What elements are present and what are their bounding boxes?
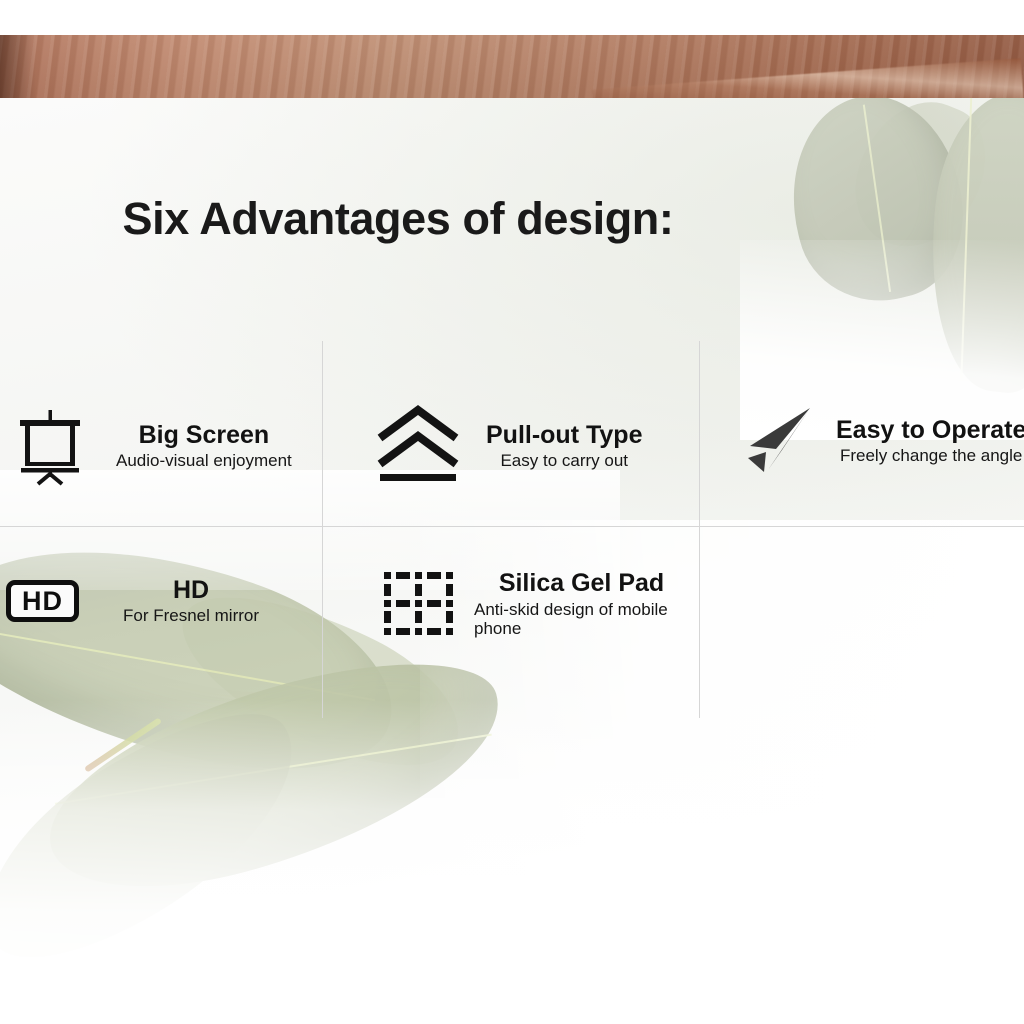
- dashed-grid-icon: [380, 566, 456, 642]
- feature-title: Pull-out Type: [486, 422, 642, 448]
- feature-subtitle: Easy to carry out: [500, 451, 628, 470]
- grid-divider-horizontal: [0, 526, 1024, 527]
- feature-cell-silica-gel-pad: Silica Gel Pad Anti-skid design of mobil…: [380, 566, 689, 642]
- feature-cell-pull-out-type: Pull-out Type Easy to carry out: [372, 404, 642, 488]
- feature-title: Easy to Operate: [836, 417, 1024, 443]
- feature-text-big-screen: Big Screen Audio-visual enjoyment: [116, 422, 292, 470]
- double-chevron-up-icon: [372, 404, 464, 488]
- feature-subtitle: For Fresnel mirror: [123, 606, 259, 625]
- feature-cell-easy-to-operate: Easy to Operate Freely change the angle: [742, 402, 1024, 480]
- feature-text-easy-to-operate: Easy to Operate Freely change the angle: [836, 417, 1024, 465]
- poster-content: Six Advantages of design: B: [0, 0, 1024, 1024]
- feature-text-pull-out-type: Pull-out Type Easy to carry out: [486, 422, 642, 470]
- poster-canvas: Six Advantages of design: B: [0, 0, 1024, 1024]
- grid-divider-vertical-left: [322, 341, 323, 718]
- feature-cell-big-screen: Big Screen Audio-visual enjoyment: [10, 404, 292, 488]
- feature-title: Big Screen: [139, 422, 270, 448]
- feature-subtitle: Freely change the angle: [840, 446, 1022, 465]
- hd-badge-label: HD: [6, 580, 79, 622]
- feature-title: Silica Gel Pad: [499, 570, 664, 596]
- feature-title: HD: [173, 577, 209, 603]
- grid-divider-vertical-right: [699, 341, 700, 718]
- page-title: Six Advantages of design:: [0, 193, 1024, 245]
- hd-badge-icon: HD: [6, 580, 79, 622]
- paper-plane-icon: [742, 402, 820, 480]
- feature-cell-hd: HD HD For Fresnel mirror: [6, 577, 259, 625]
- feature-subtitle: Anti-skid design of mobile phone: [474, 600, 689, 638]
- feature-subtitle: Audio-visual enjoyment: [116, 451, 292, 470]
- projector-screen-icon: [10, 404, 94, 488]
- feature-text-hd: HD For Fresnel mirror: [123, 577, 259, 625]
- feature-text-silica-gel-pad: Silica Gel Pad Anti-skid design of mobil…: [474, 570, 689, 637]
